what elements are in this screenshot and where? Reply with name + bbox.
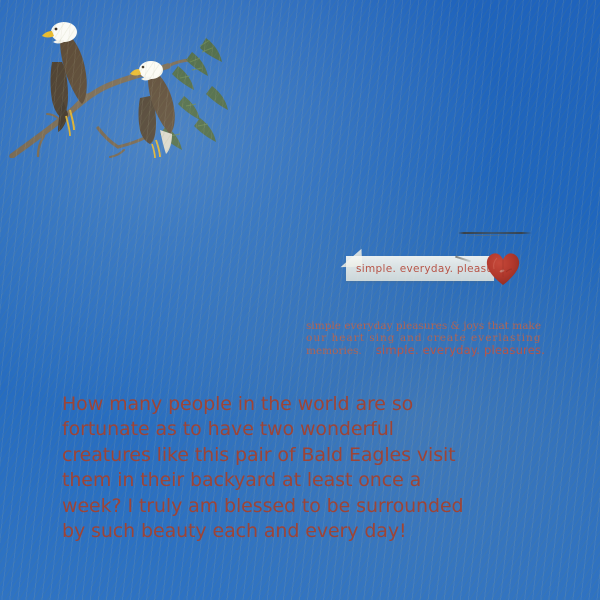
- caption-tagline: simple. everyday. pleasures.: [376, 344, 545, 356]
- scrapbook-page: simple. everyday. pleasures. simple ever…: [0, 0, 600, 600]
- heart-embellishment: [484, 250, 522, 288]
- journaling-text: How many people in the world are so fort…: [62, 392, 482, 544]
- beige-paper-block: [0, 226, 96, 294]
- stitched-line-right: [458, 232, 532, 234]
- heart-icon: [484, 250, 522, 288]
- ribbon-tag[interactable]: simple. everyday. pleasures.: [346, 256, 494, 281]
- caption-line-3: memories. simple. everyday. pleasures.: [306, 344, 546, 357]
- caption-block: simple everyday pleasures & joys that ma…: [306, 321, 546, 357]
- caption-line-1: simple everyday pleasures & joys that ma…: [306, 321, 546, 333]
- caption-memories-word: memories.: [306, 345, 362, 357]
- stitched-line-right-shadow: [462, 235, 524, 236]
